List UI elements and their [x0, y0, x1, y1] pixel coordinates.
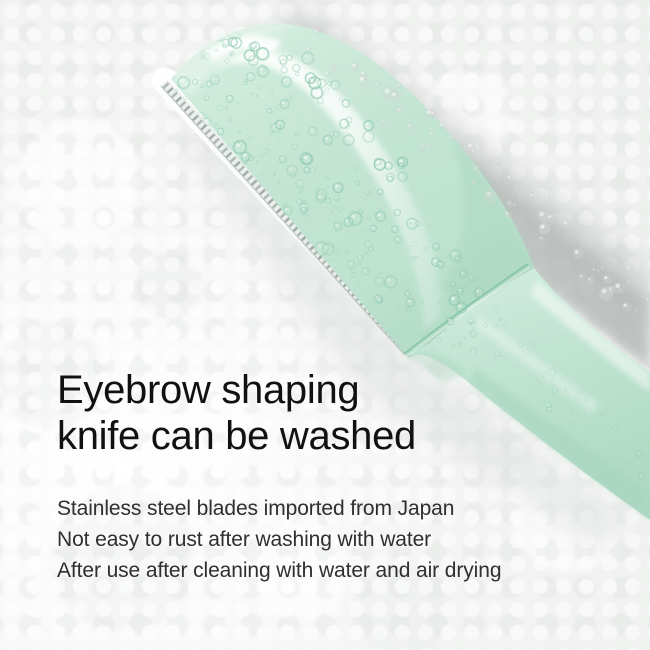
- copy-block: Eyebrow shaping knife can be washed Stai…: [57, 367, 617, 586]
- list-item: Stainless steel blades imported from Jap…: [57, 493, 617, 524]
- list-item: After use after cleaning with water and …: [57, 555, 617, 586]
- product-poster: Eyebrow shaping knife can be washed Stai…: [0, 0, 650, 650]
- feature-list: Stainless steel blades imported from Jap…: [57, 493, 617, 586]
- page-title: Eyebrow shaping knife can be washed: [57, 367, 617, 459]
- list-item: Not easy to rust after washing with wate…: [57, 524, 617, 555]
